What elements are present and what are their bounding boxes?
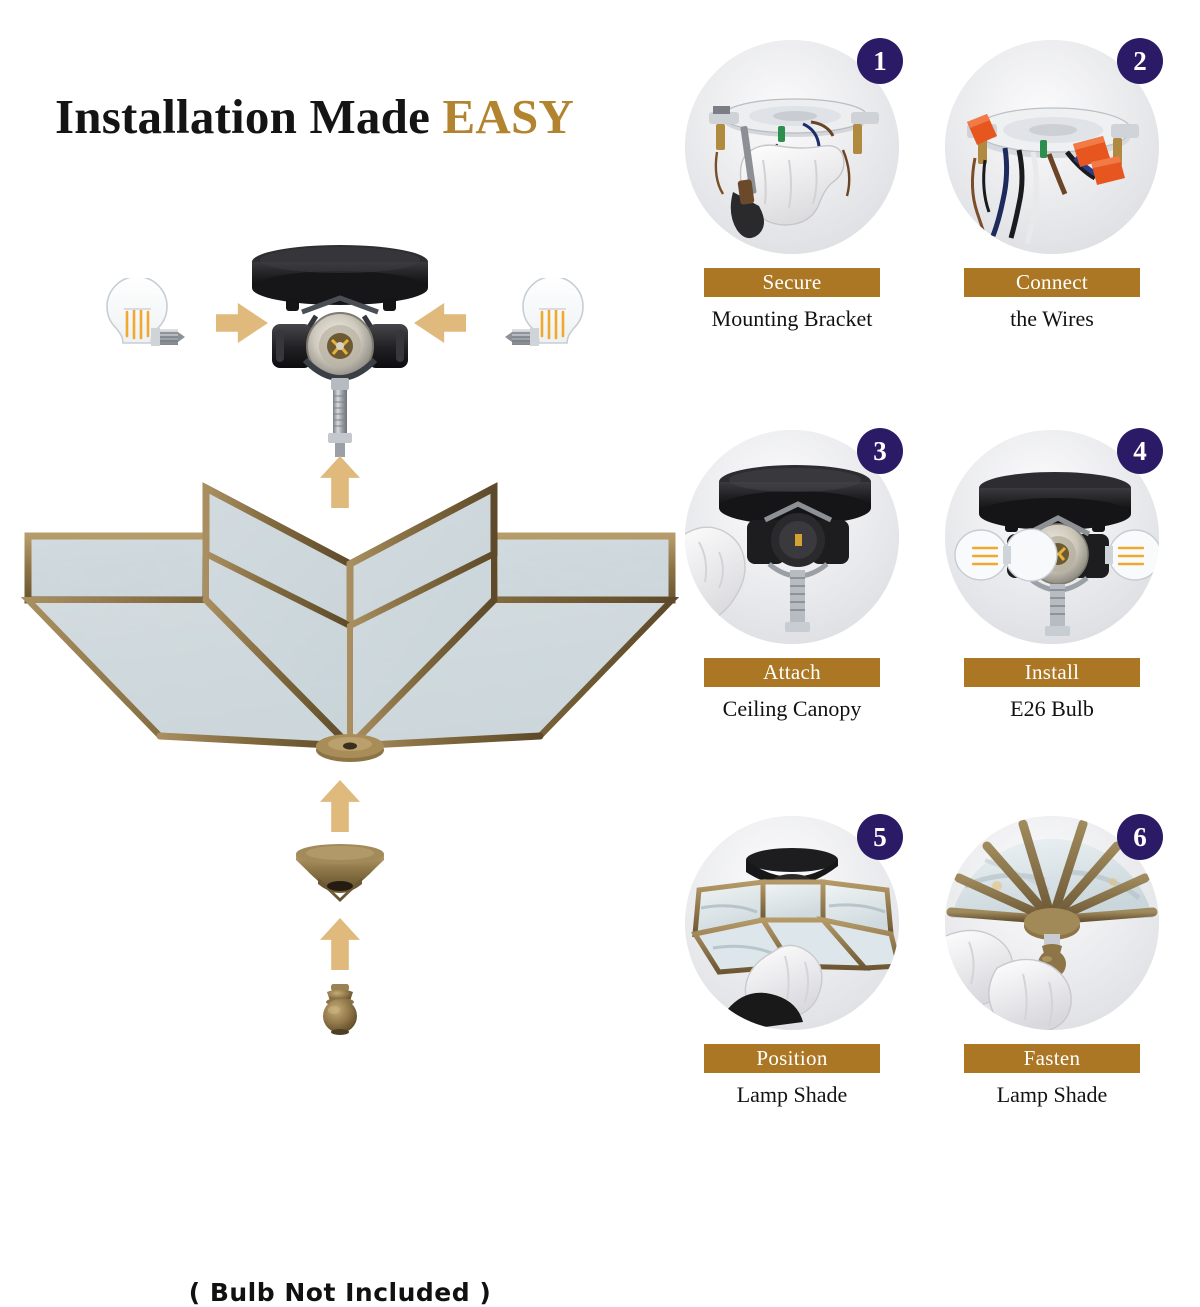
- step-target-label: Mounting Bracket: [672, 306, 912, 332]
- lamp-shade: [20, 478, 680, 788]
- step-card-1: 1 Secure Mounting Bracket: [672, 40, 912, 410]
- step-number-badge: 1: [857, 38, 903, 84]
- step-number-badge: 6: [1117, 814, 1163, 860]
- step-action-label: Connect: [964, 268, 1140, 297]
- step-card-6: 6 Fasten Lamp Shade: [932, 816, 1172, 1186]
- step-card-2: 2 Connect the Wires: [932, 40, 1172, 410]
- step-number-badge: 5: [857, 814, 903, 860]
- step-card-3: 3 Attach Ceiling Canopy: [672, 430, 912, 800]
- step-number-badge: 3: [857, 428, 903, 474]
- step-number-badge: 4: [1117, 428, 1163, 474]
- shade-center-hub: [316, 734, 384, 762]
- step-action-label: Secure: [704, 268, 880, 297]
- step-card-4: 4 Install E26 Bulb: [932, 430, 1172, 800]
- arrow-finial-up: [320, 918, 360, 970]
- step-action-label: Install: [964, 658, 1140, 687]
- step-photo-2: 2: [945, 40, 1159, 254]
- steps-grid: 1 Secure Mounting Bracket: [672, 40, 1192, 1180]
- step-photo-4: 4: [945, 430, 1159, 644]
- step-photo-5: 5: [685, 816, 899, 1030]
- bulb-left: [72, 278, 202, 378]
- step-photo-6: 6: [945, 816, 1159, 1030]
- product-exploded-diagram: ( Bulb Not Included ): [0, 200, 680, 1100]
- step-target-label: Lamp Shade: [932, 1082, 1172, 1108]
- page-title-main: Installation Made: [55, 89, 442, 144]
- bulb-not-included-note: ( Bulb Not Included ): [0, 1278, 680, 1307]
- page-title: Installation Made EASY: [55, 88, 574, 145]
- page-title-accent: EASY: [442, 89, 574, 144]
- step-target-label: Lamp Shade: [672, 1082, 912, 1108]
- bulb-right: [488, 278, 618, 378]
- step-target-label: Ceiling Canopy: [672, 696, 912, 722]
- shade-panel-right-wing: [494, 536, 672, 600]
- step-photo-1: 1: [685, 40, 899, 254]
- step-target-label: E26 Bulb: [932, 696, 1172, 722]
- shade-panel-left-wing: [28, 536, 206, 600]
- step-photo-3: 3: [685, 430, 899, 644]
- step-target-label: the Wires: [932, 306, 1172, 332]
- step-action-label: Attach: [704, 658, 880, 687]
- step-card-5: 5 Position Lamp Shade: [672, 816, 912, 1186]
- step-action-label: Fasten: [964, 1044, 1140, 1073]
- step-number-badge: 2: [1117, 38, 1163, 84]
- brass-bell-washer: [280, 840, 400, 910]
- step-action-label: Position: [704, 1044, 880, 1073]
- brass-finial: [300, 978, 380, 1048]
- installation-guide-infographic: Installation Made EASY: [0, 0, 1200, 1200]
